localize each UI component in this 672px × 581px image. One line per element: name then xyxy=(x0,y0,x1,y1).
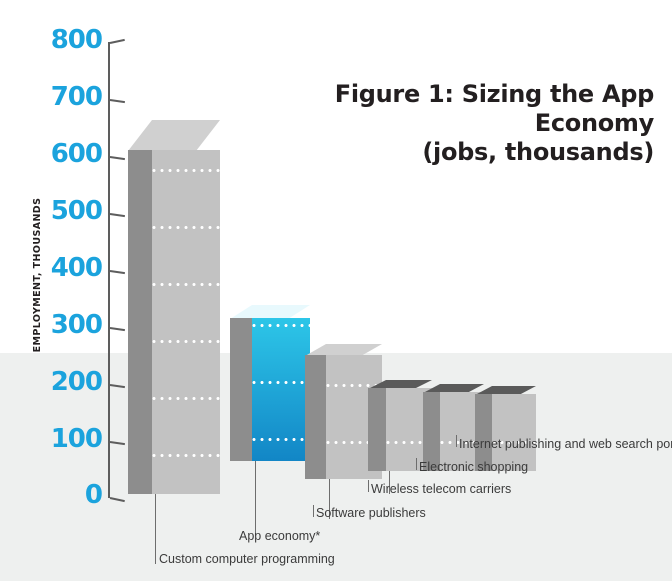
chart-figure: Figure 1: Sizing the App Economy (jobs, … xyxy=(0,0,672,581)
y-axis-tick-300 xyxy=(110,327,125,331)
leader-tick-wireless-telecom-carriers xyxy=(368,480,369,492)
leader-tick-electronic-shopping xyxy=(416,458,417,470)
bar-gridline xyxy=(252,438,310,441)
bar-gridline xyxy=(152,397,220,400)
y-axis-tick-label-300: 300 xyxy=(46,312,102,338)
y-axis-tick-label-400: 400 xyxy=(46,255,102,281)
bar-custom-computer-programming[interactable] xyxy=(152,150,220,494)
y-axis-tick-label-500: 500 xyxy=(46,198,102,224)
y-axis-tick-800 xyxy=(110,39,125,44)
category-label-electronic-shopping: Electronic shopping xyxy=(419,460,528,474)
leader-line-app-economy xyxy=(255,461,256,529)
bar-gridline xyxy=(152,169,220,172)
leader-tick-custom-computer-programming xyxy=(155,552,156,564)
bar-gridline xyxy=(152,454,220,457)
y-axis-title: EMPLOYMENT, THOUSANDS xyxy=(32,195,43,355)
y-axis-tick-label-200: 200 xyxy=(46,369,102,395)
y-axis-tick-700 xyxy=(110,99,125,103)
category-label-app-economy: App economy* xyxy=(239,529,320,543)
category-label-software-publishers: Software publishers xyxy=(316,506,426,520)
bar-gridline xyxy=(152,283,220,286)
y-axis-tick-500 xyxy=(110,213,125,217)
bar-side-face xyxy=(368,388,387,471)
bar-side-face xyxy=(128,150,153,494)
y-axis-tick-label-700: 700 xyxy=(46,84,102,110)
chart-title-line-2: (jobs, thousands) xyxy=(234,138,654,167)
bar-gridline xyxy=(152,340,220,343)
bar-app-economy[interactable] xyxy=(252,318,310,461)
bar-side-face xyxy=(230,318,253,461)
chart-title: Figure 1: Sizing the App Economy (jobs, … xyxy=(234,80,654,167)
bar-gridline xyxy=(252,381,310,384)
leader-tick-internet-publishing xyxy=(456,435,457,447)
category-label-wireless-telecom-carriers: Wireless telecom carriers xyxy=(371,482,511,496)
bar-top-face xyxy=(128,120,220,151)
y-axis-tick-label-600: 600 xyxy=(46,141,102,167)
bar-gridline xyxy=(152,226,220,229)
chart-title-line-1: Figure 1: Sizing the App Economy xyxy=(335,80,654,137)
bar-side-face xyxy=(305,355,327,479)
leader-tick-software-publishers xyxy=(313,505,314,517)
y-axis-tick-label-100: 100 xyxy=(46,426,102,452)
y-axis-tick-600 xyxy=(110,156,125,160)
category-label-internet-publishing: Internet publishing and web search porta… xyxy=(459,437,672,451)
bar-top-face xyxy=(230,305,310,319)
leader-line-custom-computer-programming xyxy=(155,494,156,560)
y-axis-tick-label-0: 0 xyxy=(46,482,102,508)
category-label-custom-computer-programming: Custom computer programming xyxy=(159,552,335,566)
bar-front-face xyxy=(252,318,310,461)
y-axis-tick-400 xyxy=(110,270,125,274)
bar-front-face xyxy=(152,150,220,494)
y-axis-tick-label-800: 800 xyxy=(46,27,102,53)
bar-gridline xyxy=(252,324,310,327)
